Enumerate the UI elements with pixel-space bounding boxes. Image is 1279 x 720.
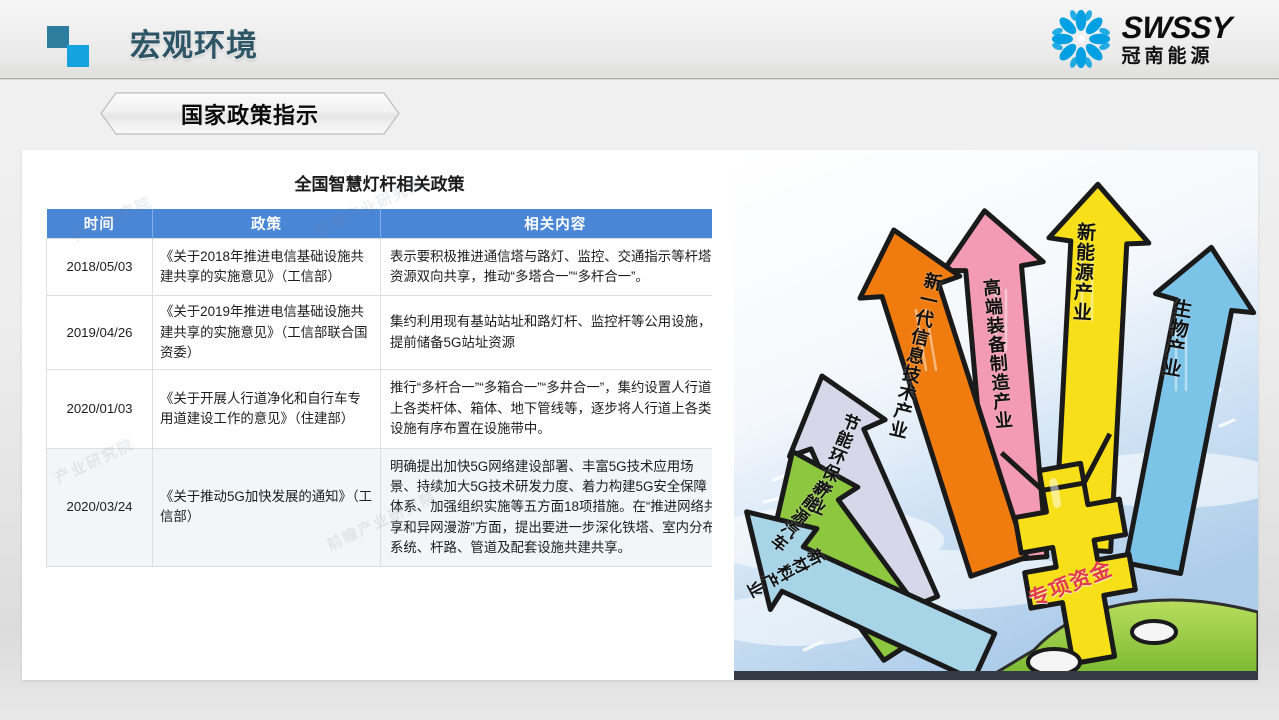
column-header-policy: 政策	[153, 209, 381, 238]
header-divider	[0, 77, 1279, 80]
brand-logo: SWSSY 冠南能源	[1050, 8, 1231, 70]
cell-policy: 《关于2019年推进电信基础设施共建共享的实施意见》（工信部联合国资委）	[153, 296, 381, 370]
illustration-panel: 新能源产业 生物产业 高端装备制造产业 新一代信息技术产业 节能环保产业 新能源…	[712, 150, 1258, 680]
two-squares-icon	[47, 26, 95, 66]
page-header: 宏观环境	[0, 0, 1279, 79]
arrow-label-new-energy-industry: 新能源产业	[1066, 221, 1098, 322]
table-row: 2020/03/24 《关于推动5G加快发展的通知》（工信部） 明确提出加快5G…	[47, 448, 730, 567]
brand-subtitle: 冠南能源	[1122, 47, 1231, 66]
cell-content: 明确提出加快5G网络建设部署、丰富5G技术应用场景、持续加大5G技术研发力度、着…	[381, 448, 730, 567]
table-row: 2020/01/03 《关于开展人行道净化和自行车专用道建设工作的意见》（住建部…	[47, 370, 730, 448]
table-title: 全国智慧灯杆相关政策	[25, 160, 734, 209]
square-dark	[47, 26, 69, 48]
policy-table-block: 全国智慧灯杆相关政策 产业研究院 前瞻产业研究院 产业研究院 前瞻产业研究院 时…	[22, 150, 734, 680]
cell-content: 集约利用现有基站站址和路灯杆、监控杆等公用设施，提前储备5G站址资源	[381, 296, 730, 370]
cell-content: 表示要积极推进通信塔与路灯、监控、交通指示等杆塔资源双向共享，推动“多塔合一”“…	[381, 238, 730, 296]
ribbon-label: 国家政策指示	[100, 92, 400, 135]
table-row: 2019/04/26 《关于2019年推进电信基础设施共建共享的实施意见》（工信…	[47, 296, 730, 370]
rising-arrows-with-yuan-symbol-illustration: 新能源产业 生物产业 高端装备制造产业 新一代信息技术产业 节能环保产业 新能源…	[734, 150, 1258, 680]
cell-content: 推行“多杆合一”“多箱合一”“多井合一”，集约设置人行道上各类杆体、箱体、地下管…	[381, 370, 730, 448]
water-droplet-flower-icon	[1050, 8, 1112, 70]
column-header-content: 相关内容	[381, 209, 730, 238]
cell-policy: 《关于推动5G加快发展的通知》（工信部）	[153, 448, 381, 567]
page-title: 宏观环境	[130, 20, 258, 65]
cell-policy: 《关于2018年推进电信基础设施共建共享的实施意见》（工信部）	[153, 238, 381, 296]
table-row: 2018/05/03 《关于2018年推进电信基础设施共建共享的实施意见》（工信…	[47, 238, 730, 296]
illustration-bottom-bar	[734, 671, 1258, 680]
brand-text: SWSSY 冠南能源	[1122, 12, 1231, 66]
brand-name: SWSSY	[1120, 12, 1232, 43]
cell-date: 2020/03/24	[47, 448, 153, 567]
section-ribbon: 国家政策指示	[100, 92, 400, 135]
cell-date: 2018/05/03	[47, 238, 153, 296]
content-panel: 全国智慧灯杆相关政策 产业研究院 前瞻产业研究院 产业研究院 前瞻产业研究院 时…	[22, 150, 1258, 680]
policy-table: 时间 政策 相关内容 2018/05/03 《关于2018年推进电信基础设施共建…	[46, 209, 730, 567]
column-header-date: 时间	[47, 209, 153, 238]
cell-date: 2019/04/26	[47, 296, 153, 370]
cell-date: 2020/01/03	[47, 370, 153, 448]
square-light	[67, 45, 89, 67]
table-header-row: 时间 政策 相关内容	[47, 209, 730, 238]
cell-policy: 《关于开展人行道净化和自行车专用道建设工作的意见》（住建部）	[153, 370, 381, 448]
